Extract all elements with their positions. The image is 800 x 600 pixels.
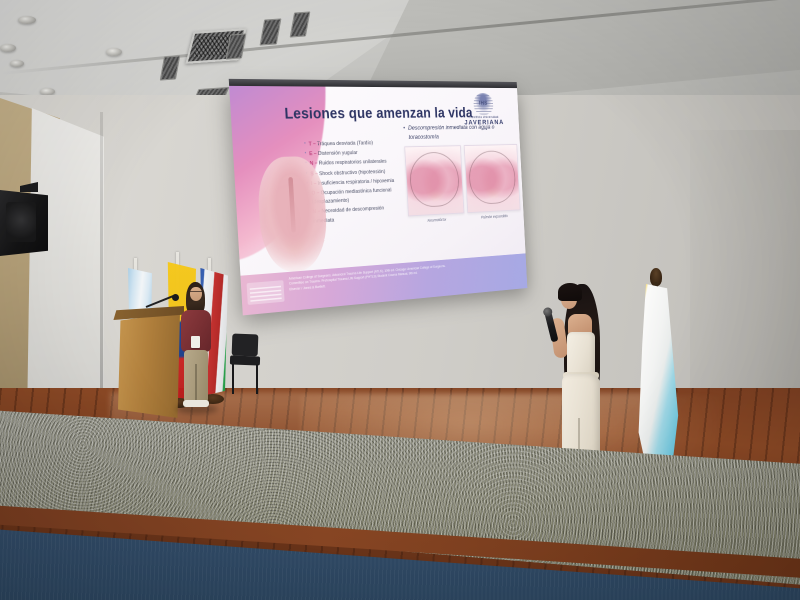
glasses-icon — [190, 291, 202, 294]
name-badge — [191, 336, 200, 348]
panel-caption-right: Pulmón expandido — [468, 213, 521, 220]
javeriana-crest-icon: IHS — [473, 93, 493, 114]
recessed-light-icon — [10, 60, 24, 67]
recessed-light-icon — [18, 16, 36, 24]
top-garment — [567, 332, 595, 376]
wooden-podium — [118, 312, 180, 418]
hair-front — [558, 283, 582, 301]
recessed-light-icon — [106, 48, 122, 56]
bullet-text: T – Tráquea desviada (Tardío) — [309, 140, 374, 147]
footer-references: American College of Surgeons. Advanced T… — [289, 258, 521, 292]
footer-logo-badge — [247, 280, 285, 305]
bullet-text: N – Ruidos respiratorios unilaterales — [310, 159, 387, 167]
bullet-text: I – Insuficiencia respiratoria / hipoxem… — [311, 178, 395, 187]
lung-illustration-pneumothorax — [404, 145, 464, 216]
chair-leg — [232, 364, 234, 394]
lung-illustration-expanded — [464, 144, 521, 213]
bullet-text: S – Shock obstructivo (hipotensión) — [310, 169, 385, 177]
presenter-at-podium — [176, 282, 216, 414]
recessed-light-icon — [0, 44, 16, 52]
face — [190, 287, 202, 301]
slide-title: Lesiones que amenzan la vida — [284, 106, 473, 124]
shoes — [183, 400, 209, 407]
crest-ihs-text: IHS — [457, 101, 509, 106]
wall-speaker-icon — [0, 190, 48, 256]
bullet-text: E – Distensión yugular — [309, 150, 358, 157]
legs-pants — [184, 350, 208, 402]
left-wall-column — [22, 108, 104, 428]
wall-column-edge — [100, 112, 103, 422]
auditorium-scene: Lesiones que amenzan la vida IHS Pontifi… — [0, 0, 800, 600]
recessed-light-icon — [40, 88, 55, 95]
projection-screen: Lesiones que amenzan la vida IHS Pontifi… — [229, 86, 527, 316]
podium-microphone-icon — [146, 288, 180, 310]
black-chair-back — [232, 334, 259, 357]
presentation-slide: Lesiones que amenzan la vida IHS Pontifi… — [229, 86, 527, 316]
slide-right-heading: Descompresión inmediata con aguja o tora… — [403, 123, 515, 143]
panel-caption-left: Neumotórax — [408, 216, 464, 224]
chair-leg — [256, 364, 258, 394]
